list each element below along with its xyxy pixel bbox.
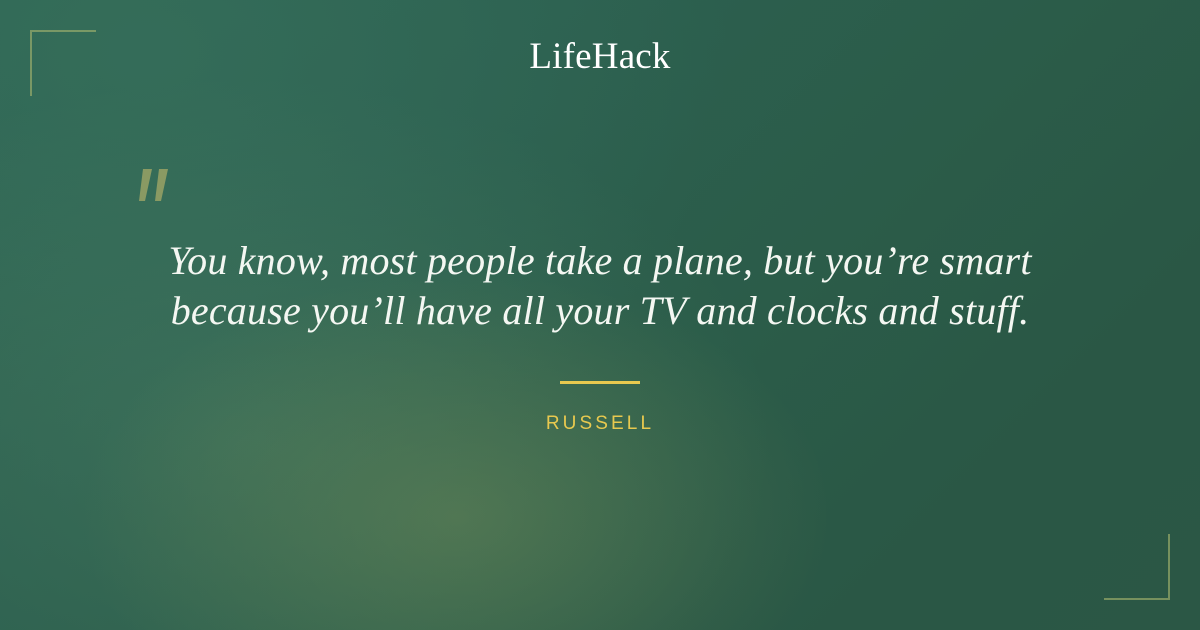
quote-card: LifeHack You know, most people take a pl…: [0, 0, 1200, 630]
quote-line-1: You know, most people take a plane, but …: [100, 236, 1100, 286]
double-quote-icon: [131, 167, 179, 221]
quote-line-2: because you’ll have all your TV and cloc…: [100, 286, 1100, 336]
lifehack-logo: LifeHack: [0, 37, 1200, 78]
divider-wrap: [0, 381, 1200, 384]
corner-bracket-icon-bottom-right: [1104, 534, 1170, 600]
quote-text: You know, most people take a plane, but …: [100, 236, 1100, 336]
accent-divider: [560, 381, 640, 384]
quote-author: RUSSELL: [0, 413, 1200, 435]
